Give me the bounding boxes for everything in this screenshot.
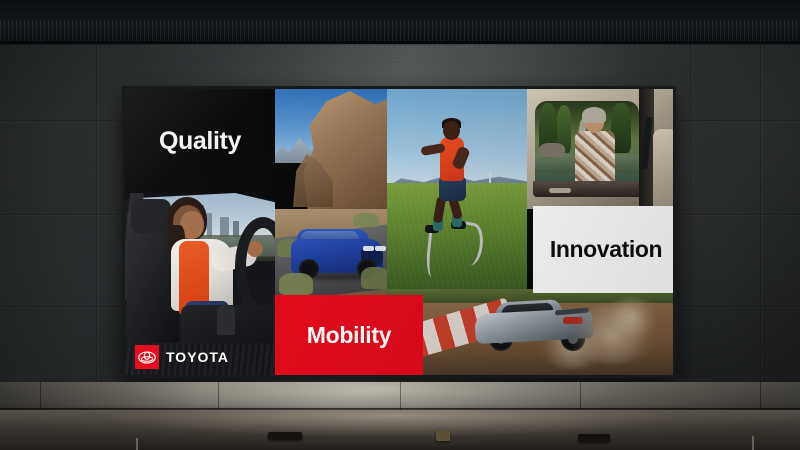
ceiling-band bbox=[0, 0, 800, 44]
panel-innovation-label: Innovation bbox=[550, 236, 662, 263]
panel-mobility-label: Mobility bbox=[307, 322, 391, 349]
photo-suv bbox=[275, 89, 387, 295]
toyota-wordmark: TOYOTA bbox=[166, 349, 229, 365]
floor bbox=[0, 410, 800, 450]
toyota-brand-lockup[interactable]: TOYOTA bbox=[135, 345, 229, 369]
ceiling-shadow bbox=[0, 41, 800, 46]
toyota-ellipse-icon bbox=[135, 345, 159, 369]
billboard-display[interactable]: Quality Mobility Innovation TOY bbox=[122, 86, 676, 378]
photo-passenger bbox=[527, 89, 673, 209]
panel-quality[interactable]: Quality bbox=[125, 89, 275, 193]
panel-quality-label: Quality bbox=[159, 127, 241, 156]
photo-runner bbox=[387, 89, 527, 289]
ceiling-ribs bbox=[0, 20, 800, 42]
photo-sportscar bbox=[387, 289, 673, 375]
panel-innovation[interactable]: Innovation bbox=[533, 206, 673, 293]
panel-mobility[interactable]: Mobility bbox=[275, 295, 423, 375]
billboard-scene: Quality Mobility Innovation TOY bbox=[0, 0, 800, 450]
